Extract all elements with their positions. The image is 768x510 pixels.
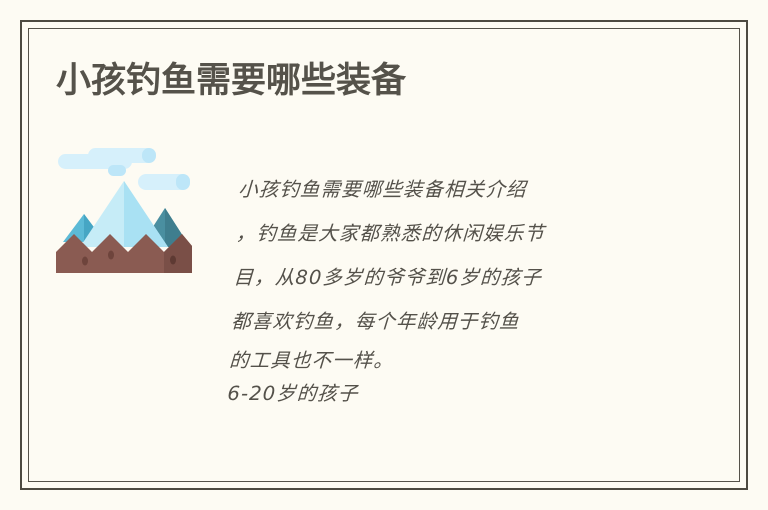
- article-body: 小孩钓鱼需要哪些装备相关介绍 ，钓鱼是大家都熟悉的休闲娱乐节 目，从80多岁的爷…: [227, 168, 676, 410]
- body-line: ，钓鱼是大家都熟悉的休闲娱乐节: [235, 212, 673, 256]
- rock-dot: [82, 257, 88, 266]
- rock-dot: [108, 251, 114, 260]
- page-title: 小孩钓鱼需要哪些装备: [56, 61, 406, 101]
- rock-dot: [170, 256, 176, 265]
- article-card: 小孩钓鱼需要哪些装备: [0, 0, 768, 510]
- body-line: 的工具也不一样。: [228, 344, 666, 377]
- body-line: 6-20岁的孩子: [227, 377, 665, 410]
- body-line: 都喜欢钓鱼，每个年龄用于钓鱼: [230, 300, 668, 344]
- body-line: 目，从80多岁的爷爷到6岁的孩子: [232, 256, 670, 300]
- mountain-illustration: [52, 148, 196, 296]
- body-line: 小孩钓鱼需要哪些装备相关介绍: [237, 168, 675, 212]
